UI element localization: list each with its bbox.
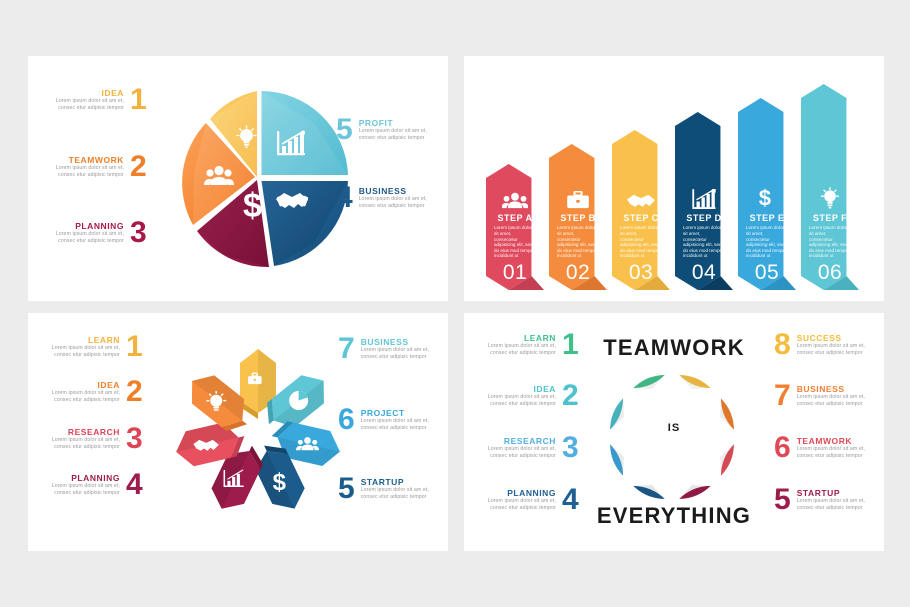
step-number: 06 bbox=[818, 262, 842, 284]
label-number: 2 bbox=[562, 382, 579, 410]
step-title: STEP E bbox=[750, 213, 785, 223]
chart-icon bbox=[692, 189, 716, 209]
step-a[interactable]: STEP A Lorem ipsum dolor sit amet, conse… bbox=[486, 164, 544, 290]
label-title: PLANNING bbox=[71, 473, 120, 483]
label-number: 3 bbox=[130, 219, 147, 247]
label-idea[interactable]: IDEA Lorem ipsum dolor sit am et, consec… bbox=[42, 378, 143, 406]
pie-segment-business bbox=[262, 181, 349, 266]
briefcase-icon bbox=[567, 191, 589, 209]
step-d[interactable]: STEP D Lorem ipsum dolor sit amet, conse… bbox=[675, 112, 733, 290]
label-title: SUCCESS bbox=[797, 333, 842, 343]
label-title: PLANNING bbox=[507, 488, 556, 498]
label-title: TEAMWORK bbox=[69, 155, 124, 165]
step-f[interactable]: STEP F Lorem ipsum dolor sit amet, conse… bbox=[801, 84, 859, 290]
panel-pentagon-ring: LEARN Lorem ipsum dolor sit am et, conse… bbox=[28, 313, 448, 551]
lightbulb-icon bbox=[820, 187, 840, 209]
petal-research bbox=[607, 441, 630, 477]
step-body: Lorem ipsum dolor sit amet, consectetur … bbox=[494, 225, 536, 259]
label-idea[interactable]: IDEA Lorem ipsum dolor sit am et, consec… bbox=[478, 382, 579, 410]
label-title: BUSINESS bbox=[359, 186, 407, 196]
label-body: Lorem ipsum dolor sit am et, consec etur… bbox=[797, 446, 875, 459]
pie-chart: $ bbox=[164, 83, 354, 273]
label-body: Lorem ipsum dolor sit am et, consec etur… bbox=[42, 345, 120, 358]
label-idea[interactable]: IDEA Lorem ipsum dolor sit am et, consec… bbox=[46, 86, 147, 114]
step-body: Lorem ipsum dolor sit amet, consectetur … bbox=[557, 225, 599, 259]
label-title: TEAMWORK bbox=[797, 436, 852, 446]
petal-idea bbox=[607, 397, 630, 433]
svg-text:$: $ bbox=[243, 187, 262, 225]
step-e[interactable]: $ STEP E Lorem ipsum dolor sit amet, con… bbox=[738, 98, 796, 290]
label-body: Lorem ipsum dolor sit am et, consec etur… bbox=[361, 487, 439, 500]
label-title: PROFIT bbox=[359, 118, 393, 128]
label-body: Lorem ipsum dolor sit am et, consec etur… bbox=[478, 343, 556, 356]
panel-petal-ring: LEARN Lorem ipsum dolor sit am et, conse… bbox=[464, 313, 884, 551]
petal-success bbox=[676, 372, 712, 395]
pentagon-ring: $ bbox=[158, 333, 358, 529]
label-number: 6 bbox=[774, 434, 791, 462]
label-business[interactable]: 7 BUSINESS Lorem ipsum dolor sit am et, … bbox=[774, 382, 875, 410]
label-number: 4 bbox=[126, 471, 143, 499]
label-title: LEARN bbox=[88, 335, 120, 345]
label-body: Lorem ipsum dolor sit am et, consec etur… bbox=[359, 128, 437, 141]
label-body: Lorem ipsum dolor sit am et, consec etur… bbox=[42, 483, 120, 496]
label-title: IDEA bbox=[101, 88, 124, 98]
svg-text:$: $ bbox=[759, 187, 771, 209]
label-body: Lorem ipsum dolor sit am et, consec etur… bbox=[478, 394, 556, 407]
label-number: 7 bbox=[774, 382, 791, 410]
people-icon bbox=[502, 192, 528, 209]
label-number: 3 bbox=[126, 425, 143, 453]
handshake-icon bbox=[627, 193, 655, 209]
dollar-icon: $ bbox=[758, 187, 776, 209]
label-research[interactable]: RESEARCH Lorem ipsum dolor sit am et, co… bbox=[42, 425, 143, 453]
label-body: Lorem ipsum dolor sit am et, consec etur… bbox=[46, 231, 124, 244]
label-title: RESEARCH bbox=[68, 427, 120, 437]
pentagon-ring-svg: $ bbox=[158, 333, 358, 533]
label-learn[interactable]: LEARN Lorem ipsum dolor sit am et, conse… bbox=[42, 333, 143, 361]
label-title: LEARN bbox=[524, 333, 556, 343]
step-arrow-group: STEP A Lorem ipsum dolor sit amet, conse… bbox=[486, 80, 862, 290]
step-body: Lorem ipsum dolor sit amet, consectetur … bbox=[746, 225, 788, 259]
petal-business bbox=[714, 397, 737, 433]
step-number: 02 bbox=[566, 262, 590, 284]
label-number: 2 bbox=[126, 378, 143, 406]
label-number: 1 bbox=[126, 333, 143, 361]
step-number: 04 bbox=[692, 262, 716, 284]
step-title: STEP D bbox=[686, 213, 721, 223]
label-teamwork[interactable]: 6 TEAMWORK Lorem ipsum dolor sit am et, … bbox=[774, 434, 875, 462]
petal-learn bbox=[632, 372, 668, 395]
label-body: Lorem ipsum dolor sit am et, consec etur… bbox=[359, 196, 437, 209]
petal-startup bbox=[676, 479, 712, 502]
step-number: 01 bbox=[503, 262, 527, 284]
label-body: Lorem ipsum dolor sit am et, consec etur… bbox=[797, 394, 875, 407]
panel-pie-infographic: IDEA Lorem ipsum dolor sit am et, consec… bbox=[28, 56, 448, 301]
label-title: IDEA bbox=[97, 380, 120, 390]
label-title: PLANNING bbox=[75, 221, 124, 231]
label-title: STARTUP bbox=[361, 477, 404, 487]
label-body: Lorem ipsum dolor sit am et, consec etur… bbox=[361, 418, 439, 431]
step-b[interactable]: STEP B Lorem ipsum dolor sit amet, conse… bbox=[549, 144, 607, 290]
label-title: STARTUP bbox=[797, 488, 840, 498]
step-number: 05 bbox=[755, 262, 779, 284]
label-body: Lorem ipsum dolor sit am et, consec etur… bbox=[46, 98, 124, 111]
label-number: 2 bbox=[130, 153, 147, 181]
label-title: BUSINESS bbox=[361, 337, 409, 347]
label-body: Lorem ipsum dolor sit am et, consec etur… bbox=[797, 343, 875, 356]
svg-text:$: $ bbox=[273, 469, 287, 496]
dollar-icon: $ bbox=[243, 187, 262, 225]
step-title: STEP C bbox=[623, 213, 658, 223]
step-title: STEP B bbox=[560, 213, 595, 223]
label-planning[interactable]: PLANNING Lorem ipsum dolor sit am et, co… bbox=[46, 219, 147, 247]
label-number: 1 bbox=[130, 86, 147, 114]
label-title: BUSINESS bbox=[797, 384, 845, 394]
label-planning[interactable]: PLANNING Lorem ipsum dolor sit am et, co… bbox=[42, 471, 143, 499]
label-body: Lorem ipsum dolor sit am et, consec etur… bbox=[42, 390, 120, 403]
label-body: Lorem ipsum dolor sit am et, consec etur… bbox=[361, 347, 439, 360]
petal-planning bbox=[632, 479, 668, 502]
panel-arrow-steps: STEP A Lorem ipsum dolor sit amet, conse… bbox=[464, 56, 884, 301]
label-body: Lorem ipsum dolor sit am et, consec etur… bbox=[42, 437, 120, 450]
slide-grid: IDEA Lorem ipsum dolor sit am et, consec… bbox=[0, 0, 910, 607]
step-title: STEP A bbox=[497, 213, 532, 223]
label-number: 3 bbox=[562, 434, 579, 462]
label-body: Lorem ipsum dolor sit am et, consec etur… bbox=[46, 165, 124, 178]
step-title: STEP F bbox=[813, 213, 847, 223]
label-title: RESEARCH bbox=[504, 436, 556, 446]
label-teamwork[interactable]: TEAMWORK Lorem ipsum dolor sit am et, co… bbox=[46, 153, 147, 181]
headline-top: TEAMWORK bbox=[554, 335, 794, 361]
step-body: Lorem ipsum dolor sit amet, consectetur … bbox=[809, 225, 851, 259]
label-title: IDEA bbox=[533, 384, 556, 394]
petal-teamwork bbox=[714, 441, 737, 477]
label-title: PROJECT bbox=[361, 408, 405, 418]
petal-ring-svg bbox=[594, 359, 750, 515]
step-c[interactable]: STEP C Lorem ipsum dolor sit amet, conse… bbox=[612, 130, 670, 290]
label-research[interactable]: RESEARCH Lorem ipsum dolor sit am et, co… bbox=[478, 434, 579, 462]
step-number: 03 bbox=[629, 262, 653, 284]
petal-ring bbox=[594, 359, 750, 515]
pie-svg: $ bbox=[164, 83, 354, 273]
label-body: Lorem ipsum dolor sit am et, consec etur… bbox=[478, 446, 556, 459]
step-body: Lorem ipsum dolor sit amet, consectetur … bbox=[683, 225, 725, 259]
step-body: Lorem ipsum dolor sit amet, consectetur … bbox=[620, 225, 662, 259]
